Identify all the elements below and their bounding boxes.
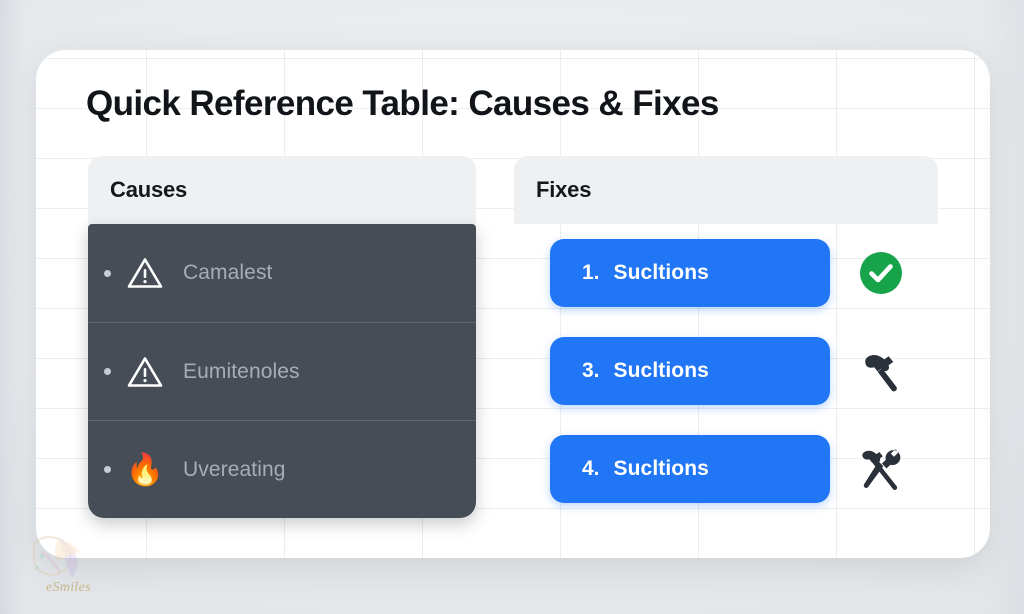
fix-button[interactable]: 4. Sucltions	[550, 435, 830, 503]
fixes-panel: 1. Sucltions 3. Sucltions	[514, 224, 938, 518]
cause-row[interactable]: Eumitenoles	[88, 322, 476, 420]
fix-row: 3. Sucltions	[514, 322, 938, 420]
flame-icon: 🔥	[125, 450, 165, 490]
page-background: Quick Reference Table: Causes & Fixes Ca…	[0, 0, 1024, 614]
fix-row: 1. Sucltions	[514, 224, 938, 322]
fix-button[interactable]: 3. Sucltions	[550, 337, 830, 405]
fixes-column-header: Fixes	[514, 156, 938, 224]
quick-reference-card: Quick Reference Table: Causes & Fixes Ca…	[36, 50, 990, 558]
warning-triangle-icon	[125, 253, 165, 293]
fix-button[interactable]: 1. Sucltions	[550, 239, 830, 307]
check-circle-icon	[844, 250, 918, 296]
fix-label: Sucltions	[614, 261, 709, 285]
fix-label: Sucltions	[614, 359, 709, 383]
fix-row: 4. Sucltions	[514, 420, 938, 518]
watermark-label: eSmiles	[46, 580, 91, 596]
warning-triangle-icon	[125, 352, 165, 392]
fixes-header-label: Fixes	[514, 177, 591, 203]
bullet-icon	[104, 270, 111, 277]
bullet-icon	[104, 368, 111, 375]
cause-row[interactable]: 🔥 Uvereating	[88, 420, 476, 518]
bullet-icon	[104, 466, 111, 473]
fix-number: 4.	[556, 457, 614, 481]
cause-label: Camalest	[183, 261, 273, 285]
causes-header-label: Causes	[88, 177, 187, 203]
hammer-and-wrench-icon	[844, 443, 918, 495]
page-title: Quick Reference Table: Causes & Fixes	[86, 84, 719, 124]
fix-number: 3.	[556, 359, 614, 383]
cause-label: Uvereating	[183, 458, 286, 482]
causes-panel: Camalest Eumitenoles 🔥 Uvere	[88, 224, 476, 518]
causes-column-header: Causes	[88, 156, 476, 224]
fix-label: Sucltions	[614, 457, 709, 481]
fix-number: 1.	[556, 261, 614, 285]
hammer-icon	[844, 346, 918, 396]
flame-glyph: 🔥	[126, 454, 165, 485]
cause-row[interactable]: Camalest	[88, 224, 476, 322]
cause-label: Eumitenoles	[183, 360, 300, 384]
